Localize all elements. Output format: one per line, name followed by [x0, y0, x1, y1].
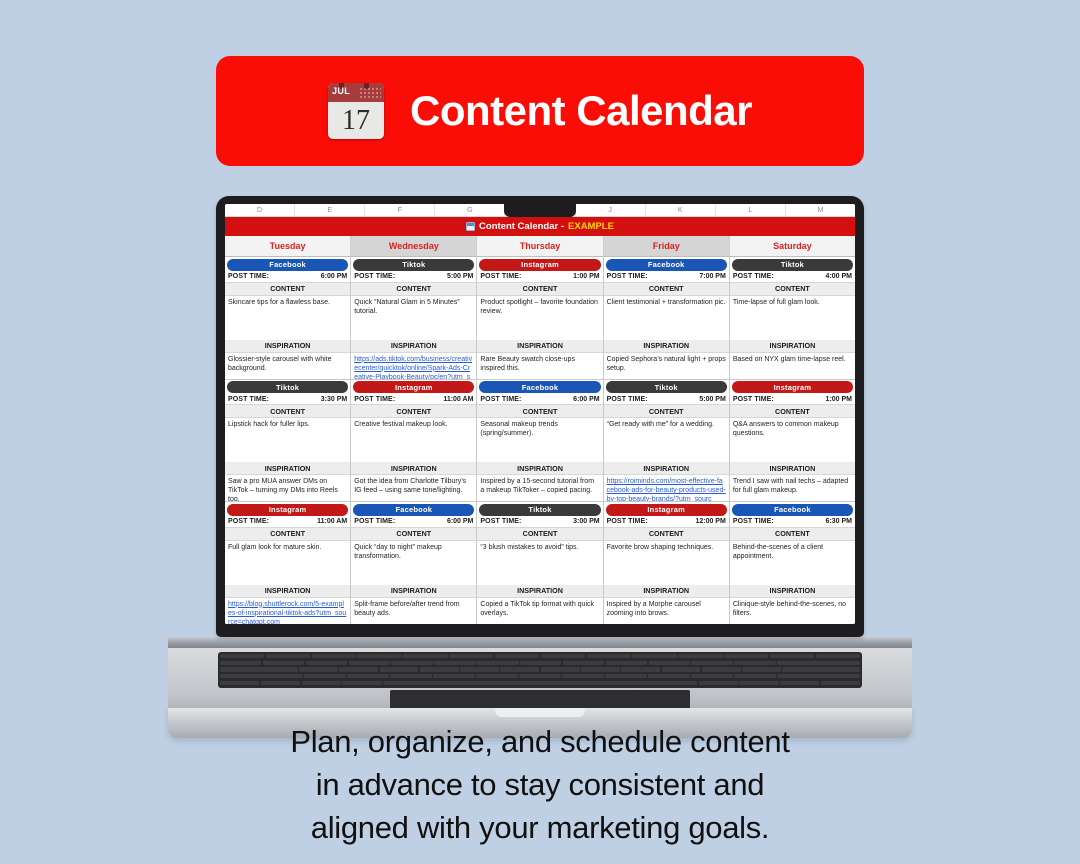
- content-section-header: CONTENT: [477, 528, 602, 541]
- keyboard-key: [777, 661, 860, 666]
- post-time-row: POST TIME:6:30 PM: [730, 517, 855, 528]
- keyboard-key: [261, 681, 300, 686]
- page-title: Content Calendar: [410, 87, 752, 135]
- post-time-label: POST TIME:: [354, 273, 395, 280]
- calendar-entry: TiktokPOST TIME:5:00 PMCONTENTQuick “Nat…: [351, 257, 476, 380]
- post-time-row: POST TIME:6:00 PM: [477, 395, 602, 406]
- platform-badge-wrap: Tiktok: [351, 257, 476, 272]
- platform-badge[interactable]: Instagram: [353, 381, 474, 393]
- post-time-row: POST TIME:4:00 PM: [730, 272, 855, 283]
- keyboard-key: [220, 681, 259, 686]
- calendar-entry: TiktokPOST TIME:3:30 PMCONTENTLipstick h…: [225, 380, 350, 503]
- keyboard-key: [541, 667, 580, 672]
- platform-badge[interactable]: Tiktok: [353, 259, 474, 271]
- keyboard-key: [433, 674, 474, 679]
- post-time-value[interactable]: 11:00 AM: [443, 396, 473, 403]
- keyboard-row: [220, 681, 860, 686]
- keyboard-key: [391, 661, 432, 666]
- platform-badge-wrap: Tiktok: [730, 257, 855, 272]
- day-header-friday[interactable]: Friday: [604, 236, 730, 257]
- keyboard-key: [780, 681, 819, 686]
- sheet-title-text: Content Calendar -: [479, 221, 564, 232]
- content-text[interactable]: Creative festival makeup look.: [351, 418, 476, 462]
- content-text[interactable]: Client testimonial + transformation pic.: [604, 296, 729, 340]
- column-letter[interactable]: J: [576, 204, 646, 216]
- post-time-label: POST TIME:: [733, 273, 774, 280]
- inspiration-link[interactable]: https://roiminds.com/most-effective-face…: [607, 478, 726, 501]
- content-text[interactable]: Full glam look for mature skin.: [225, 541, 350, 585]
- calendar-grid: FacebookPOST TIME:6:00 PMCONTENTSkincare…: [225, 257, 855, 624]
- column-letter[interactable]: D: [225, 204, 295, 216]
- calendar-entry: InstagramPOST TIME:1:00 PMCONTENTQ&A ans…: [730, 380, 855, 503]
- keyboard-key: [312, 654, 356, 659]
- post-time-label: POST TIME:: [480, 273, 521, 280]
- content-text[interactable]: Skincare tips for a flawless base.: [225, 296, 350, 340]
- content-section-header: CONTENT: [604, 528, 729, 541]
- platform-badge-wrap: Facebook: [351, 502, 476, 517]
- keyboard-key: [649, 661, 690, 666]
- keyboard-key: [342, 681, 381, 686]
- calendar-entry: FacebookPOST TIME:7:00 PMCONTENTClient t…: [604, 257, 729, 380]
- inspiration-text[interactable]: Clinique-style behind-the-scenes, no fil…: [730, 598, 855, 624]
- inspiration-section-header: INSPIRATION: [351, 340, 476, 353]
- platform-badge-wrap: Facebook: [477, 380, 602, 395]
- content-text[interactable]: Q&A answers to common makeup questions.: [730, 418, 855, 462]
- inspiration-section-header: INSPIRATION: [225, 340, 350, 353]
- content-text[interactable]: Quick “day to night” makeup transformati…: [351, 541, 476, 585]
- keyboard-key: [220, 661, 261, 666]
- keyboard-key: [734, 661, 775, 666]
- inspiration-section-header: INSPIRATION: [477, 340, 602, 353]
- post-time-value[interactable]: 1:00 PM: [573, 273, 599, 280]
- keyboard-key: [605, 674, 646, 679]
- content-section-header: CONTENT: [477, 405, 602, 418]
- keyboard-key: [541, 654, 585, 659]
- column-letter[interactable]: F: [365, 204, 435, 216]
- content-text[interactable]: Seasonal makeup trends (spring/summer).: [477, 418, 602, 462]
- inspiration-text[interactable]: Copied a TikTok tip format with quick ov…: [477, 598, 602, 624]
- post-time-label: POST TIME:: [733, 518, 774, 525]
- keyboard-key: [304, 674, 345, 679]
- post-time-row: POST TIME:6:00 PM: [351, 517, 476, 528]
- platform-badge[interactable]: Tiktok: [479, 504, 600, 516]
- page-root: JUL 17 Content Calendar DEFGHJKLM Conten…: [0, 0, 1080, 864]
- platform-badge[interactable]: Facebook: [227, 259, 348, 271]
- inspiration-text[interactable]: https://roiminds.com/most-effective-face…: [604, 475, 729, 501]
- keyboard-key: [739, 681, 778, 686]
- keyboard-key: [380, 667, 419, 672]
- calendar-icon-day: 17: [328, 102, 384, 139]
- inspiration-section-header: INSPIRATION: [225, 585, 350, 598]
- laptop-front-notch: [495, 708, 585, 717]
- platform-badge[interactable]: Tiktok: [606, 381, 727, 393]
- content-text[interactable]: Quick “Natural Glam in 5 Minutes” tutori…: [351, 296, 476, 340]
- content-section-header: CONTENT: [730, 528, 855, 541]
- keyboard-key: [816, 654, 860, 659]
- keyboard-key: [403, 654, 447, 659]
- keyboard-key: [581, 667, 620, 672]
- column-letter[interactable]: L: [716, 204, 786, 216]
- keyboard-key: [777, 674, 860, 679]
- keyboard-key: [734, 674, 775, 679]
- inspiration-section-header: INSPIRATION: [730, 585, 855, 598]
- calendar-column-wednesday: TiktokPOST TIME:5:00 PMCONTENTQuick “Nat…: [351, 257, 477, 624]
- keyboard-key: [449, 654, 493, 659]
- post-time-value[interactable]: 4:00 PM: [826, 273, 852, 280]
- content-section-header: CONTENT: [477, 283, 602, 296]
- platform-badge-wrap: Instagram: [604, 502, 729, 517]
- day-header-row: TuesdayWednesdayThursdayFridaySaturday: [225, 236, 855, 257]
- day-header-tuesday[interactable]: Tuesday: [225, 236, 351, 257]
- keyboard-key: [770, 654, 814, 659]
- post-time-row: POST TIME:11:00 AM: [225, 517, 350, 528]
- keyboard-key: [306, 661, 347, 666]
- keyboard-key: [339, 667, 378, 672]
- keyboard-key: [562, 674, 603, 679]
- caption-line-1: Plan, organize, and schedule content: [0, 720, 1080, 763]
- keyboard-key: [606, 661, 647, 666]
- keyboard-row: [220, 667, 860, 672]
- keyboard-key: [563, 661, 604, 666]
- trackpad: [390, 690, 690, 708]
- keyboard-key: [460, 667, 499, 672]
- post-time-row: POST TIME:1:00 PM: [477, 272, 602, 283]
- keyboard-row: [220, 661, 860, 666]
- content-section-header: CONTENT: [225, 405, 350, 418]
- inspiration-text[interactable]: Saw a pro MUA answer DMs on TikTok – tur…: [225, 475, 350, 501]
- keyboard-key: [420, 667, 459, 672]
- keyboard-key: [220, 667, 298, 672]
- calendar-entry: FacebookPOST TIME:6:00 PMCONTENTQuick “d…: [351, 502, 476, 624]
- platform-badge[interactable]: Instagram: [227, 504, 348, 516]
- keyboard-key: [648, 674, 689, 679]
- post-time-row: POST TIME:5:00 PM: [604, 395, 729, 406]
- platform-badge-wrap: Facebook: [225, 257, 350, 272]
- column-letter[interactable]: M: [786, 204, 855, 216]
- camera-notch: [504, 204, 576, 217]
- inspiration-section-header: INSPIRATION: [351, 462, 476, 475]
- calendar-entry: InstagramPOST TIME:11:00 AMCONTENTFull g…: [225, 502, 350, 624]
- keyboard-key: [299, 667, 338, 672]
- inspiration-section-header: INSPIRATION: [477, 462, 602, 475]
- spreadsheet-icon: [466, 222, 475, 231]
- keyboard-key: [220, 654, 264, 659]
- keyboard-row: [220, 654, 860, 659]
- keyboard-key: [476, 674, 517, 679]
- post-time-row: POST TIME:5:00 PM: [351, 272, 476, 283]
- column-letter[interactable]: E: [295, 204, 365, 216]
- inspiration-section-header: INSPIRATION: [225, 462, 350, 475]
- inspiration-link[interactable]: https://ads.tiktok.com/business/creative…: [354, 356, 472, 379]
- platform-badge-wrap: Facebook: [604, 257, 729, 272]
- post-time-row: POST TIME:7:00 PM: [604, 272, 729, 283]
- post-time-value[interactable]: 1:00 PM: [826, 396, 852, 403]
- platform-badge[interactable]: Tiktok: [732, 259, 853, 271]
- column-letter[interactable]: G: [435, 204, 505, 216]
- keyboard-key: [357, 654, 401, 659]
- calendar-entry: FacebookPOST TIME:6:00 PMCONTENTSkincare…: [225, 257, 350, 380]
- calendar-column-thursday: InstagramPOST TIME:1:00 PMCONTENTProduct…: [477, 257, 603, 624]
- post-time-label: POST TIME:: [607, 396, 648, 403]
- calendar-column-saturday: TiktokPOST TIME:4:00 PMCONTENTTime-lapse…: [730, 257, 855, 624]
- inspiration-text[interactable]: Rare Beauty swatch close-ups inspired th…: [477, 353, 602, 379]
- content-section-header: CONTENT: [730, 405, 855, 418]
- inspiration-text[interactable]: https://ads.tiktok.com/business/creative…: [351, 353, 476, 379]
- platform-badge-wrap: Instagram: [225, 502, 350, 517]
- keyboard-key: [434, 661, 475, 666]
- keyboard-key: [266, 654, 310, 659]
- post-time-row: POST TIME:1:00 PM: [730, 395, 855, 406]
- content-section-header: CONTENT: [730, 283, 855, 296]
- post-time-value[interactable]: 6:00 PM: [573, 396, 599, 403]
- platform-badge[interactable]: Instagram: [479, 259, 600, 271]
- post-time-value[interactable]: 11:00 AM: [317, 518, 347, 525]
- keyboard-key: [724, 654, 768, 659]
- platform-badge[interactable]: Instagram: [606, 504, 727, 516]
- post-time-value[interactable]: 3:00 PM: [573, 518, 599, 525]
- platform-badge[interactable]: Instagram: [732, 381, 853, 393]
- content-section-header: CONTENT: [225, 283, 350, 296]
- keyboard-key: [691, 674, 732, 679]
- keyboard-key: [349, 661, 390, 666]
- post-time-label: POST TIME:: [480, 396, 521, 403]
- post-time-label: POST TIME:: [228, 273, 269, 280]
- keyboard-key: [390, 674, 431, 679]
- calendar-entry: FacebookPOST TIME:6:00 PMCONTENTSeasonal…: [477, 380, 602, 503]
- content-section-header: CONTENT: [351, 283, 476, 296]
- keyboard-key: [520, 661, 561, 666]
- post-time-label: POST TIME:: [607, 273, 648, 280]
- calendar-icon: JUL 17: [328, 83, 384, 139]
- content-section-header: CONTENT: [351, 405, 476, 418]
- post-time-row: POST TIME:6:00 PM: [225, 272, 350, 283]
- keyboard-key: [821, 681, 860, 686]
- inspiration-text[interactable]: https://blog.shuttlerock.com/5-examples-…: [225, 598, 350, 624]
- platform-badge[interactable]: Facebook: [732, 504, 853, 516]
- inspiration-link[interactable]: https://blog.shuttlerock.com/5-examples-…: [228, 601, 346, 624]
- platform-badge-wrap: Facebook: [730, 502, 855, 517]
- inspiration-section-header: INSPIRATION: [730, 340, 855, 353]
- inspiration-section-header: INSPIRATION: [477, 585, 602, 598]
- day-header-saturday[interactable]: Saturday: [730, 236, 855, 257]
- keyboard-key: [632, 654, 676, 659]
- inspiration-text[interactable]: Glossier-style carousel with white backg…: [225, 353, 350, 379]
- content-text[interactable]: “Get ready with me” for a wedding.: [604, 418, 729, 462]
- keyboard-key: [495, 654, 539, 659]
- content-text[interactable]: “3 blush mistakes to avoid” tips.: [477, 541, 602, 585]
- caption-line-3: aligned with your marketing goals.: [0, 806, 1080, 849]
- keyboard: [218, 652, 862, 688]
- post-time-label: POST TIME:: [733, 396, 774, 403]
- content-text[interactable]: Product spotlight – favorite foundation …: [477, 296, 602, 340]
- platform-badge[interactable]: Tiktok: [227, 381, 348, 393]
- caption-block: Plan, organize, and schedule content in …: [0, 720, 1080, 849]
- content-text[interactable]: Behind-the-scenes of a client appointmen…: [730, 541, 855, 585]
- laptop-hinge: [168, 637, 912, 648]
- inspiration-text[interactable]: Trend I saw with nail techs – adapted fo…: [730, 475, 855, 501]
- keyboard-key: [347, 674, 388, 679]
- post-time-label: POST TIME:: [228, 396, 269, 403]
- post-time-value[interactable]: 6:30 PM: [826, 518, 852, 525]
- keyboard-key: [477, 661, 518, 666]
- inspiration-section-header: INSPIRATION: [604, 585, 729, 598]
- keyboard-key: [519, 674, 560, 679]
- caption-line-2: in advance to stay consistent and: [0, 763, 1080, 806]
- keyboard-key: [742, 667, 781, 672]
- header-banner: JUL 17 Content Calendar: [216, 56, 864, 166]
- post-time-value[interactable]: 3:30 PM: [321, 396, 347, 403]
- post-time-row: POST TIME:11:00 AM: [351, 395, 476, 406]
- content-text[interactable]: Lipstick hack for fuller lips.: [225, 418, 350, 462]
- inspiration-section-header: INSPIRATION: [604, 340, 729, 353]
- day-header-thursday[interactable]: Thursday: [477, 236, 603, 257]
- calendar-entry: InstagramPOST TIME:11:00 AMCONTENTCreati…: [351, 380, 476, 503]
- calendar-entry: TiktokPOST TIME:4:00 PMCONTENTTime-lapse…: [730, 257, 855, 380]
- platform-badge-wrap: Instagram: [477, 257, 602, 272]
- platform-badge[interactable]: Facebook: [353, 504, 474, 516]
- content-section-header: CONTENT: [604, 405, 729, 418]
- post-time-label: POST TIME:: [607, 518, 648, 525]
- keyboard-key: [263, 661, 304, 666]
- post-time-row: POST TIME:3:00 PM: [477, 517, 602, 528]
- keyboard-key: [691, 661, 732, 666]
- inspiration-section-header: INSPIRATION: [351, 585, 476, 598]
- calendar-entry: InstagramPOST TIME:1:00 PMCONTENTProduct…: [477, 257, 602, 380]
- inspiration-text[interactable]: Inspired by a Morphe carousel zooming in…: [604, 598, 729, 624]
- keyboard-key: [662, 667, 701, 672]
- column-letter[interactable]: K: [646, 204, 716, 216]
- calendar-entry: TiktokPOST TIME:3:00 PMCONTENT“3 blush m…: [477, 502, 602, 624]
- content-section-header: CONTENT: [225, 528, 350, 541]
- keyboard-key: [782, 667, 860, 672]
- keyboard-key: [383, 681, 697, 686]
- content-text[interactable]: Favorite brow shaping techniques.: [604, 541, 729, 585]
- post-time-label: POST TIME:: [354, 396, 395, 403]
- platform-badge[interactable]: Facebook: [606, 259, 727, 271]
- calendar-icon-month: JUL: [332, 86, 350, 96]
- platform-badge-wrap: Tiktok: [225, 380, 350, 395]
- content-section-header: CONTENT: [604, 283, 729, 296]
- keyboard-key: [621, 667, 660, 672]
- laptop-keyboard-deck: [168, 648, 912, 708]
- keyboard-key: [220, 674, 303, 679]
- post-time-value[interactable]: 5:00 PM: [699, 396, 725, 403]
- post-time-value[interactable]: 6:00 PM: [447, 518, 473, 525]
- inspiration-text[interactable]: Got the idea from Charlotte Tilbury’s IG…: [351, 475, 476, 501]
- content-text[interactable]: Time-lapse of full glam look.: [730, 296, 855, 340]
- inspiration-section-header: INSPIRATION: [730, 462, 855, 475]
- platform-badge[interactable]: Facebook: [479, 381, 600, 393]
- post-time-value[interactable]: 12:00 PM: [695, 518, 725, 525]
- post-time-value[interactable]: 6:00 PM: [321, 273, 347, 280]
- laptop-screen: DEFGHJKLM Content Calendar - EXAMPLE Tue…: [225, 204, 855, 624]
- post-time-label: POST TIME:: [354, 518, 395, 525]
- day-header-wednesday[interactable]: Wednesday: [351, 236, 477, 257]
- calendar-entry: InstagramPOST TIME:12:00 PMCONTENTFavori…: [604, 502, 729, 624]
- keyboard-key: [702, 667, 741, 672]
- calendar-entry: TiktokPOST TIME:5:00 PMCONTENT“Get ready…: [604, 380, 729, 503]
- calendar-column-tuesday: FacebookPOST TIME:6:00 PMCONTENTSkincare…: [225, 257, 351, 624]
- inspiration-text[interactable]: Split-frame before/after trend from beau…: [351, 598, 476, 624]
- laptop-lid: DEFGHJKLM Content Calendar - EXAMPLE Tue…: [216, 196, 864, 637]
- platform-badge-wrap: Tiktok: [477, 502, 602, 517]
- post-time-value[interactable]: 5:00 PM: [447, 273, 473, 280]
- sheet-title-bar: Content Calendar - EXAMPLE: [225, 217, 855, 236]
- post-time-label: POST TIME:: [228, 518, 269, 525]
- calendar-entry: FacebookPOST TIME:6:30 PMCONTENTBehind-t…: [730, 502, 855, 624]
- inspiration-text[interactable]: Inspired by a 15-second tutorial from a …: [477, 475, 602, 501]
- content-section-header: CONTENT: [351, 528, 476, 541]
- post-time-row: POST TIME:12:00 PM: [604, 517, 729, 528]
- inspiration-text[interactable]: Based on NYX glam time-lapse reel.: [730, 353, 855, 379]
- inspiration-section-header: INSPIRATION: [604, 462, 729, 475]
- post-time-value[interactable]: 7:00 PM: [699, 273, 725, 280]
- laptop-mockup: DEFGHJKLM Content Calendar - EXAMPLE Tue…: [168, 196, 912, 738]
- platform-badge-wrap: Tiktok: [604, 380, 729, 395]
- keyboard-row: [220, 674, 860, 679]
- inspiration-text[interactable]: Copied Sephora’s natural light + props s…: [604, 353, 729, 379]
- keyboard-key: [500, 667, 539, 672]
- keyboard-key: [678, 654, 722, 659]
- keyboard-key: [699, 681, 738, 686]
- keyboard-key: [302, 681, 341, 686]
- post-time-row: POST TIME:3:30 PM: [225, 395, 350, 406]
- platform-badge-wrap: Instagram: [730, 380, 855, 395]
- post-time-label: POST TIME:: [480, 518, 521, 525]
- platform-badge-wrap: Instagram: [351, 380, 476, 395]
- sheet-title-badge: EXAMPLE: [568, 221, 614, 232]
- keyboard-key: [587, 654, 631, 659]
- calendar-column-friday: FacebookPOST TIME:7:00 PMCONTENTClient t…: [604, 257, 730, 624]
